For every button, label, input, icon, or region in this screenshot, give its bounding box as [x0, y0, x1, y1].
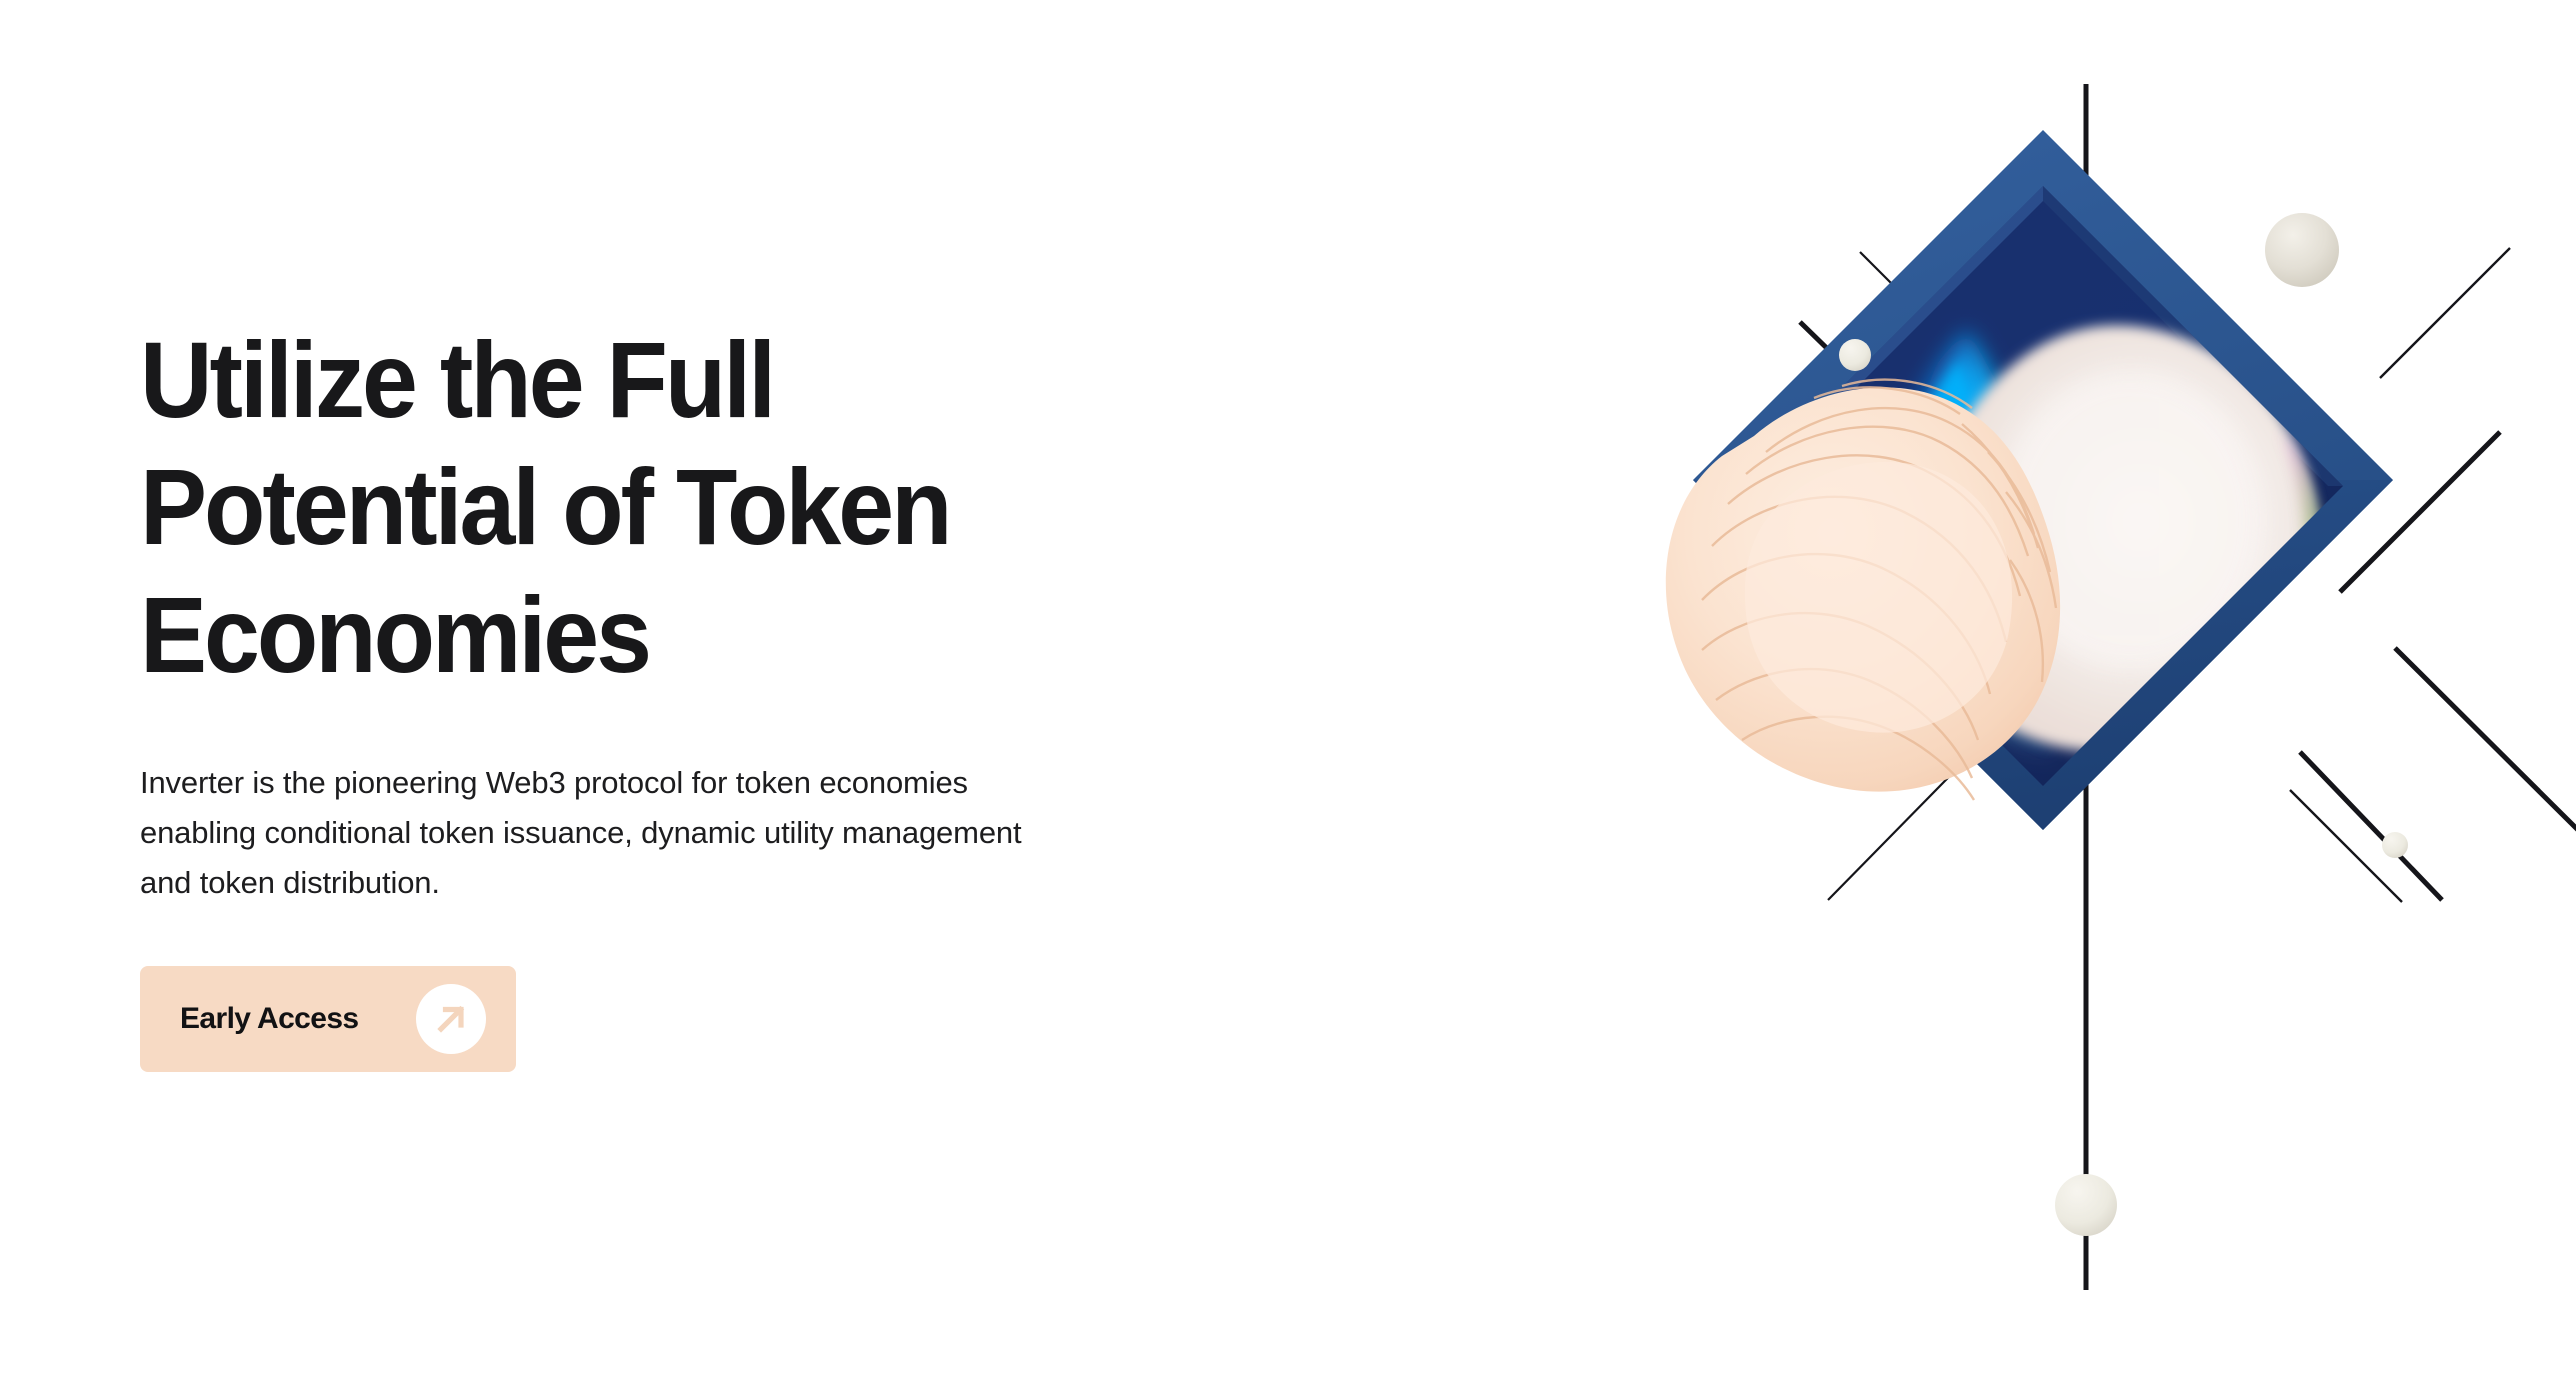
hero-copy-column: Utilize the FullPotential of TokenEconom… [140, 316, 1340, 698]
headline-line-1: Utilize the Full [140, 319, 773, 440]
subcopy-line-2: enabling conditional token issuance, dyn… [140, 815, 1021, 850]
radiating-line-lower-right-thick [2300, 752, 2442, 900]
sphere-large-top-right [2265, 213, 2339, 287]
hero-description: Inverter is the pioneering Web3 protocol… [140, 758, 1320, 909]
token-economy-3d-illustration [1490, 0, 2576, 1378]
arrow-up-right-icon [416, 984, 486, 1054]
beige-organic-topographic-blob [1666, 380, 2060, 800]
hero-section: Utilize the FullPotential of TokenEconom… [0, 0, 2576, 1378]
radiating-line-right-thick-2 [2395, 648, 2576, 832]
headline-line-3: Economies [140, 574, 649, 695]
page-title: Utilize the FullPotential of TokenEconom… [140, 316, 1079, 698]
sphere-small-bottom-right [2382, 832, 2408, 858]
subcopy-line-1: Inverter is the pioneering Web3 protocol… [140, 765, 968, 800]
radiating-line-upper-right-thin [2380, 248, 2510, 378]
early-access-label: Early Access [180, 1002, 359, 1036]
sphere-on-vertical-axis-bottom [2055, 1174, 2117, 1236]
early-access-button[interactable]: Early Access [140, 966, 516, 1072]
headline-line-2: Potential of Token [140, 446, 949, 567]
subcopy-line-3: and token distribution. [140, 865, 440, 900]
sphere-pin-top-left [1839, 339, 1871, 371]
